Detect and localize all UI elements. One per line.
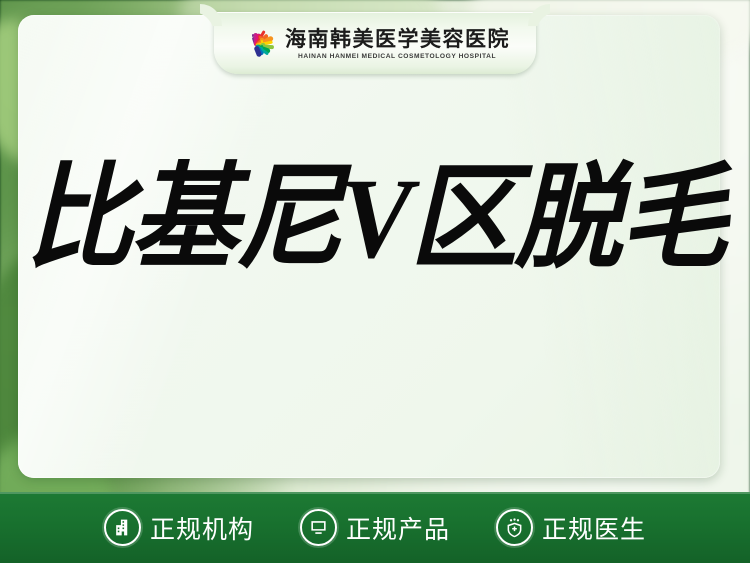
trust-badge-institution[interactable]: 正规机构 — [104, 509, 254, 546]
trust-badge-product[interactable]: 正规产品 — [300, 509, 450, 546]
hospital-building-icon — [104, 509, 141, 546]
trust-badge-label: 正规医生 — [542, 510, 646, 546]
peacock-fan-logo-icon — [240, 27, 276, 63]
trust-badge-label: 正规产品 — [346, 510, 450, 546]
trust-badge-bar: 正规机构 正规产品 正规医生 — [0, 492, 750, 563]
trust-badge-label: 正规机构 — [150, 510, 254, 546]
clinic-name-block: 海南韩美医学美容医院 HAINAN HANMEI MEDICAL COSMETO… — [285, 29, 510, 61]
clinic-logo-plaque: 海南韩美医学美容医院 HAINAN HANMEI MEDICAL COSMETO… — [214, 12, 536, 74]
ad-banner: 比基尼V区脱毛 海南韩美医学美容医院 HAINAN HANMEI MEDICAL… — [0, 0, 750, 563]
clinic-name-cn: 海南韩美医学美容医院 — [285, 29, 510, 50]
monitor-device-icon — [300, 509, 337, 546]
logo-accent-dot — [257, 49, 260, 52]
page-title: 比基尼V区脱毛 — [0, 163, 750, 277]
shield-doctor-icon — [496, 509, 533, 546]
trust-badge-doctor[interactable]: 正规医生 — [496, 509, 646, 546]
clinic-name-en: HAINAN HANMEI MEDICAL COSMETOLOGY HOSPIT… — [298, 54, 496, 61]
